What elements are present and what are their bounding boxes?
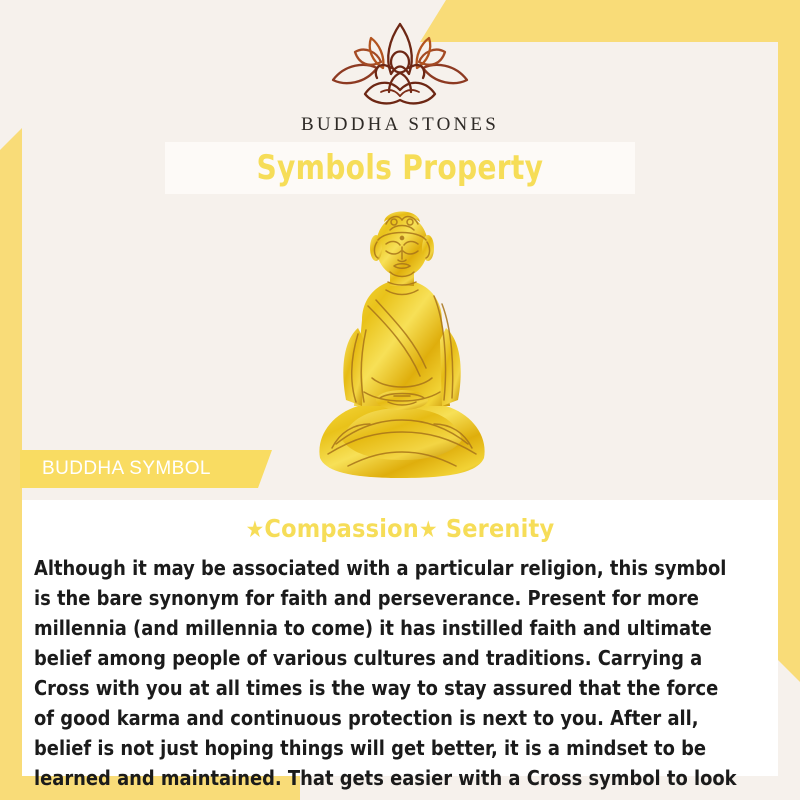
lotus-meditation-figure-icon [315,18,485,110]
star-icon-1: ★ [246,517,265,543]
brand-logo-block: BUDDHA STONES [0,18,800,136]
buddha-symbol-tag-label: BUDDHA SYMBOL [42,458,211,480]
decor-band-left [0,128,22,800]
seated-golden-buddha-meditation-icon [302,200,502,490]
page-title: Symbols Property [257,148,544,188]
title-banner: Symbols Property [165,142,635,194]
virtue-second: Serenity [446,514,555,543]
star-icon-2: ★ [419,517,438,543]
brand-name: BUDDHA STONES [0,114,800,136]
virtues-line: ★Compassion★ Serenity [22,514,778,543]
poster-canvas: BUDDHA STONES Symbols Property [0,0,800,800]
body-paragraph: Although it may be associated with a par… [34,553,744,800]
virtue-first: Compassion [264,514,419,543]
buddha-symbol-tag: BUDDHA SYMBOL [20,450,272,488]
content-panel: ★Compassion★ Serenity Although it may be… [22,500,778,776]
